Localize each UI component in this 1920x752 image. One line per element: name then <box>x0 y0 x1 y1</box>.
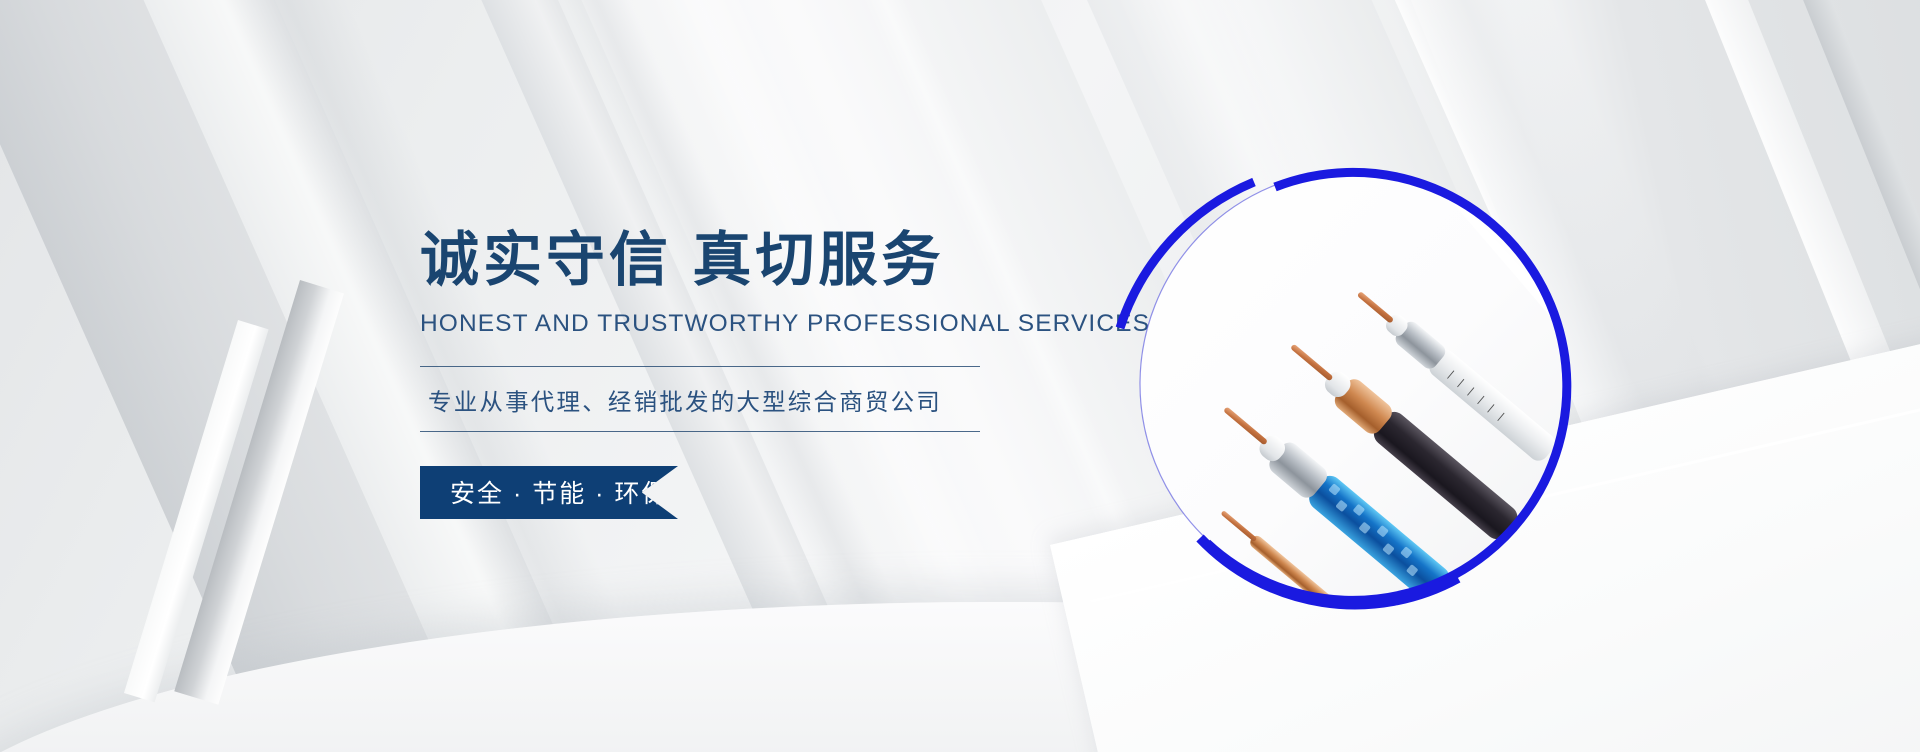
product-medallion: | | | | | | <box>1128 158 1580 610</box>
status-badge: 安全 · 节能 · 环保 <box>420 466 678 519</box>
circle-ring-accent <box>1128 158 1580 610</box>
divider-bottom <box>420 431 980 432</box>
hero-text-block: 诚实守信 真切服务 HONEST AND TRUSTWORTHY PROFESS… <box>420 230 1100 519</box>
page-title: 诚实守信 真切服务 <box>420 230 1100 292</box>
subtitle-english: HONEST AND TRUSTWORTHY PROFESSIONAL SERV… <box>420 310 1100 338</box>
hero-banner: 诚实守信 真切服务 HONEST AND TRUSTWORTHY PROFESS… <box>0 0 1920 752</box>
divider-top <box>420 366 980 367</box>
description-text: 专业从事代理、经销批发的大型综合商贸公司 <box>420 367 1100 431</box>
